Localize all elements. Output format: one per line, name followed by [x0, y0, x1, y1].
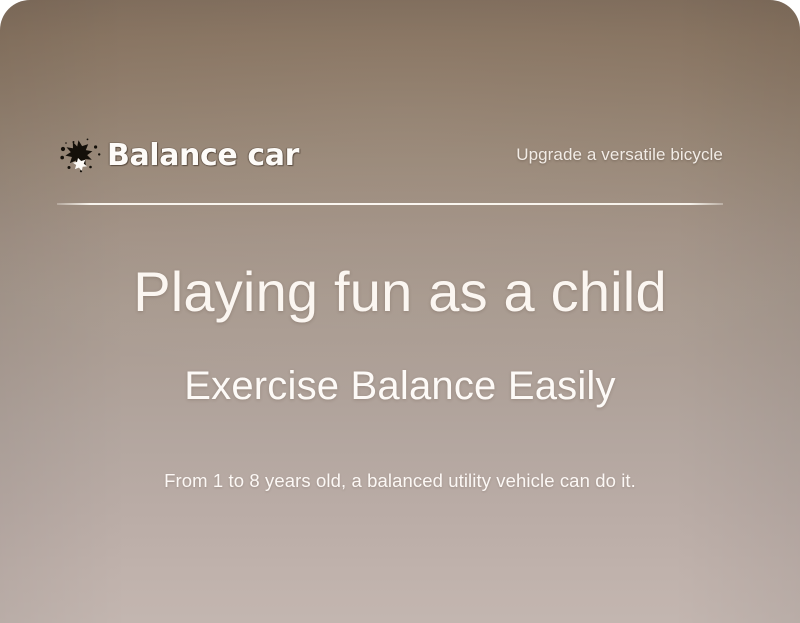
- brand-lockup: Balance car: [57, 134, 299, 176]
- ink-splatter-icon: [57, 136, 103, 176]
- promo-banner: Balance car Upgrade a versatile bicycle …: [0, 0, 800, 623]
- hero-copy: Playing fun as a child Exercise Balance …: [0, 262, 800, 493]
- header-divider: [57, 203, 723, 205]
- hero-footnote: From 1 to 8 years old, a balanced utilit…: [0, 470, 800, 492]
- banner-header: Balance car Upgrade a versatile bicycle: [57, 132, 723, 178]
- brand-name: Balance car: [107, 138, 299, 173]
- hero-headline: Playing fun as a child: [0, 262, 800, 322]
- hero-subheadline: Exercise Balance Easily: [0, 364, 800, 408]
- header-tagline: Upgrade a versatile bicycle: [516, 145, 723, 165]
